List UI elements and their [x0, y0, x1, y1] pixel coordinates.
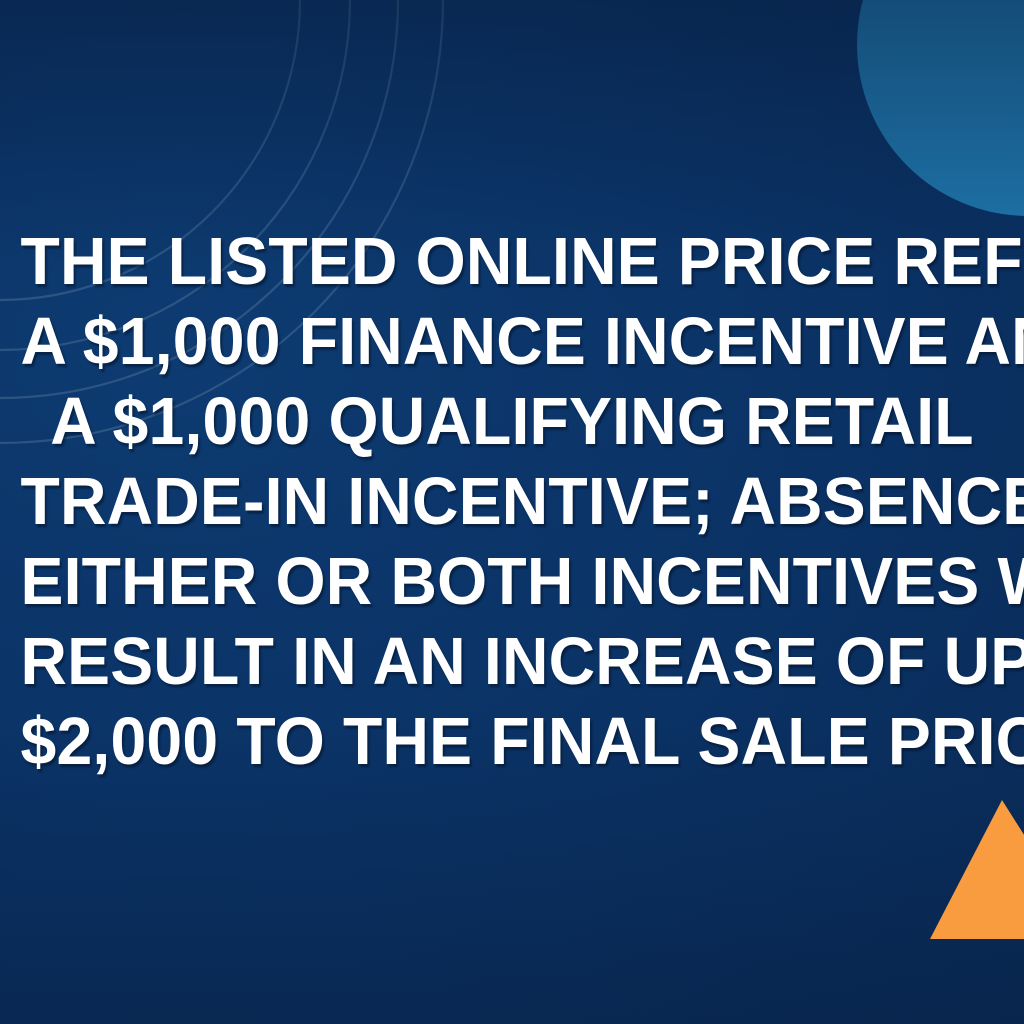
promo-banner: THE LISTED ONLINE PRICE REFLECTS A $1,00… — [0, 0, 1024, 1024]
headline-line-7: $2,000 TO THE FINAL SALE PRICE. — [20, 702, 1003, 782]
headline-line-1: THE LISTED ONLINE PRICE REFLECTS — [20, 222, 1003, 302]
headline-line-2: A $1,000 FINANCE INCENTIVE AND — [20, 302, 1003, 382]
headline-line-6: RESULT IN AN INCREASE OF UP TO — [20, 622, 1003, 702]
disclaimer-headline: THE LISTED ONLINE PRICE REFLECTS A $1,00… — [0, 222, 1024, 782]
headline-line-5: EITHER OR BOTH INCENTIVES WILL — [20, 542, 1003, 622]
headline-line-3: A $1,000 QUALIFYING RETAIL — [20, 382, 1003, 462]
headline-line-4: TRADE-IN INCENTIVE; ABSENCE OF — [20, 462, 1003, 542]
